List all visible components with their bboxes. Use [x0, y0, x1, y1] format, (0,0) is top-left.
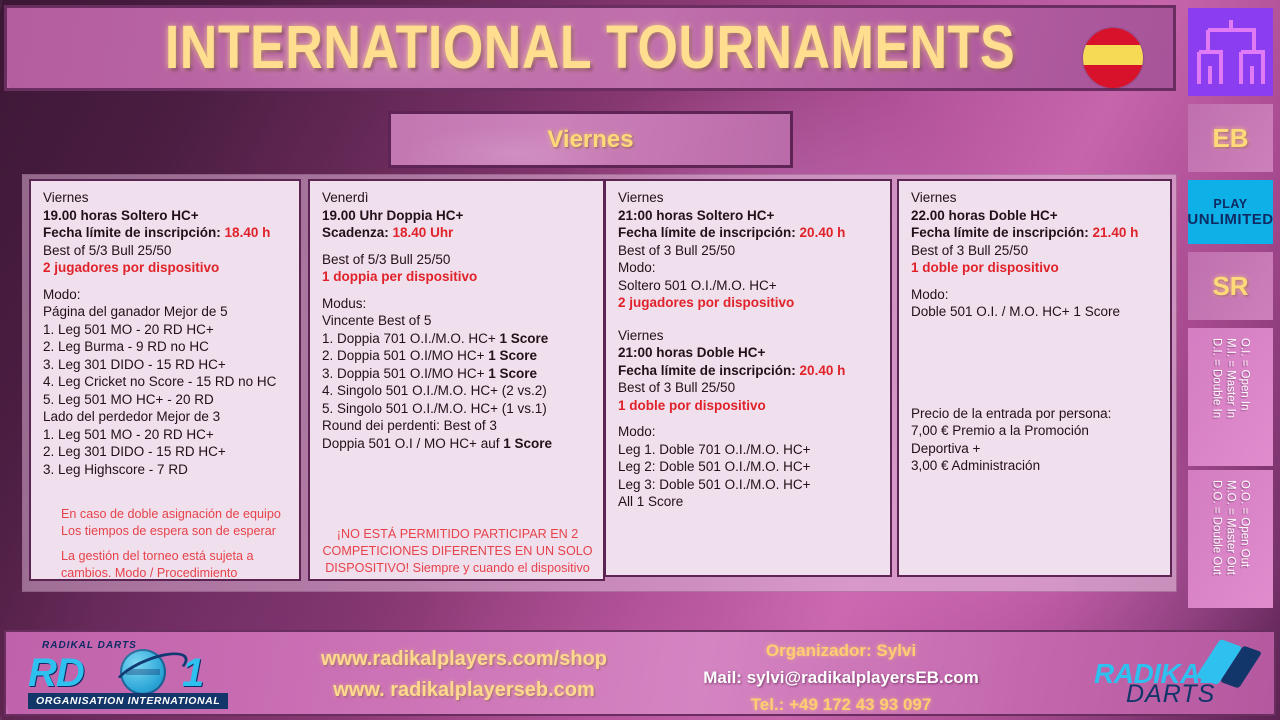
panel-note-line: Los tiempos de espera son de esperar	[61, 523, 289, 540]
panel-note-line: COMPETICIONES DIFERENTES EN UN SOLO	[322, 543, 593, 560]
legend-in-line: M.I. = Master In	[1225, 338, 1237, 418]
rail-badge-sr[interactable]: SR	[1188, 252, 1273, 320]
panel-line: 5. Leg 501 MO HC+ - 20 RD	[43, 391, 289, 409]
page-title: INTERNATIONAL TOURNAMENTS	[165, 13, 1015, 84]
panel-line: Best of 5/3 Bull 25/50	[322, 251, 593, 269]
spacer	[911, 396, 1160, 405]
price-heading-row: Precio de la entrada por persona:	[911, 405, 1160, 423]
panel-heading: Viernes	[618, 328, 664, 343]
price-line: Deportiva +	[911, 440, 1160, 458]
panel-heading: Viernes	[618, 190, 664, 205]
panel-line: Doble 501 O.I. / M.O. HC+ 1 Score	[911, 303, 1160, 321]
legend-in-line: O.I. = Open In	[1239, 338, 1251, 411]
rail-eb-label: EB	[1212, 123, 1248, 154]
footer-link-shop[interactable]: www.radikalplayers.com/shop	[274, 644, 654, 675]
panel-line: Venerdì	[322, 189, 593, 207]
panel-line: Modo:	[43, 286, 289, 304]
brand-darts-text: DARTS	[1126, 680, 1215, 709]
panel-line: Viernes	[618, 189, 880, 207]
panel-line: 2. Leg Burma - 9 RD no HC	[43, 338, 289, 356]
spacer	[911, 366, 1160, 381]
header-bar: INTERNATIONAL TOURNAMENTS	[4, 5, 1176, 91]
rail-sr-label: SR	[1212, 271, 1248, 302]
panel-line: 5. Singolo 501 O.I./M.O. HC+ (1 vs.1)	[322, 400, 593, 418]
panel-line: Viernes	[618, 327, 880, 345]
right-rail: EB PLAY UNLIMITED SR O.I. = Open InM.I. …	[1180, 0, 1280, 620]
panel-line: Lado del perdedor Mejor de 3	[43, 408, 289, 426]
panel-note: ¡NO ESTÁ PERMITIDO PARTICIPAR EN 2COMPET…	[322, 526, 593, 581]
price-line: 3,00 € Administración	[911, 457, 1160, 475]
spacer	[911, 381, 1160, 396]
panel-heading: Página del ganador Mejor de 5	[43, 304, 228, 319]
panel-line: Página del ganador Mejor de 5	[43, 303, 289, 321]
spacer	[322, 242, 593, 251]
footer-bar: RADIKAL DARTS RD 1 ORGANISATION INTERNAT…	[4, 630, 1276, 716]
panel-note-line: La gestión del torneo está sujeta a	[61, 548, 289, 565]
spacer	[911, 277, 1160, 286]
panel-line: 2 jugadores por dispositivo	[43, 259, 289, 277]
spacer	[911, 321, 1160, 336]
panel-line: Fecha límite de inscripción: 20.40 h	[618, 224, 880, 242]
tab-viernes[interactable]: Viernes	[388, 111, 793, 168]
panel-note-line: En caso de doble asignación de equipo	[61, 506, 289, 523]
panel-line: 21:00 horas Soltero HC+	[618, 207, 880, 225]
panel-heading: Lado del perdedor Mejor de 3	[43, 409, 220, 424]
spacer	[911, 351, 1160, 366]
legend-out-line: D.O. = Double Out	[1211, 480, 1223, 575]
play-line1: PLAY	[1213, 197, 1247, 211]
rail-badge-eb[interactable]: EB	[1188, 104, 1273, 172]
panel-line: Leg 3: Doble 501 O.I./M.O. HC+	[618, 476, 880, 494]
panel-line: 1 doppia per dispositivo	[322, 268, 593, 286]
deadline-value: 18.40 h	[221, 225, 271, 240]
score-emphasis: 1 Score	[496, 331, 549, 346]
legend-out: O.O. = Open OutM.O. = Master OutD.O. = D…	[1188, 470, 1273, 608]
panel-line: Soltero 501 O.I./M.O. HC+	[618, 277, 880, 295]
price-line: 7,00 € Premio a la Promoción	[911, 422, 1160, 440]
panel-line: Modus:	[322, 295, 593, 313]
footer-links: www.radikalplayers.com/shop www. radikal…	[274, 644, 654, 706]
deadline-value: 20.40 h	[796, 225, 846, 240]
panel-line: Leg 2: Doble 501 O.I./M.O. HC+	[618, 458, 880, 476]
panel-friday-21[interactable]: Viernes21:00 horas Soltero HC+Fecha lími…	[604, 179, 892, 577]
tournament-bracket-icon[interactable]	[1188, 8, 1273, 96]
legend-out-lines: O.O. = Open OutM.O. = Master OutD.O. = D…	[1188, 470, 1273, 608]
schedule-panels-container: Viernes19.00 horas Soltero HC+Fecha lími…	[22, 174, 1177, 592]
panel-friday-singles-19[interactable]: Viernes19.00 horas Soltero HC+Fecha lími…	[29, 179, 301, 581]
deadline-value: 21.40 h	[1089, 225, 1139, 240]
panel-line: 3. Leg 301 DIDO - 15 RD HC+	[43, 356, 289, 374]
play-line2: UNLIMITED	[1188, 211, 1273, 228]
score-emphasis: 1 Score	[484, 366, 537, 381]
panel-line: 2 jugadores por dispositivo	[618, 294, 880, 312]
panel-line: 22.00 horas Doble HC+	[911, 207, 1160, 225]
panel-line: All 1 Score	[618, 493, 880, 511]
panel-line: Fecha límite de inscripción: 20.40 h	[618, 362, 880, 380]
spacer	[618, 414, 880, 423]
score-emphasis: 1 Score	[484, 348, 537, 363]
panel-note-line: cambios. Modo / Procedimiento	[61, 565, 289, 581]
panel-line: 4. Singolo 501 O.I./M.O. HC+ (2 vs.2)	[322, 382, 593, 400]
rdoi-logo-one-text: 1	[182, 651, 204, 696]
panel-line: 1. Doppia 701 O.I./M.O. HC+ 1 Score	[322, 330, 593, 348]
legend-in-line: D.I. = Double In	[1211, 338, 1223, 418]
panel-line: Modo:	[618, 259, 880, 277]
deadline-value: 18.40 Uhr	[389, 225, 454, 240]
rdoi-logo: RADIKAL DARTS RD 1 ORGANISATION INTERNAT…	[20, 638, 230, 710]
panel-heading: Modo:	[618, 260, 656, 275]
panel-line: 2. Doppia 501 O.I/MO HC+ 1 Score	[322, 347, 593, 365]
spain-flag-icon	[1083, 28, 1143, 88]
panel-line: Leg 1. Doble 701 O.I./M.O. HC+	[618, 441, 880, 459]
rail-badge-play-unlimited[interactable]: PLAY UNLIMITED	[1188, 180, 1273, 244]
panel-line: 19.00 horas Soltero HC+	[43, 207, 289, 225]
panel-line: 1. Leg 501 MO - 20 RD HC+	[43, 426, 289, 444]
legend-in: O.I. = Open InM.I. = Master InD.I. = Dou…	[1188, 328, 1273, 466]
panel-heading: Modus:	[322, 296, 366, 311]
organizer-text: Organizador: Sylvi	[626, 637, 1056, 664]
panel-heading: Viernes	[43, 190, 89, 205]
panel-heading: Vincente Best of 5	[322, 313, 431, 328]
panel-heading: Venerdì	[322, 190, 369, 205]
panel-line: 3. Doppia 501 O.I/MO HC+ 1 Score	[322, 365, 593, 383]
spacer	[618, 312, 880, 327]
tel-text: Tel.: +49 172 43 93 097	[626, 691, 1056, 718]
spacer	[911, 336, 1160, 351]
panel-line: Modo:	[911, 286, 1160, 304]
panel-line: Vincente Best of 5	[322, 312, 593, 330]
panel-friday-22[interactable]: Viernes22.00 horas Doble HC+Fecha límite…	[897, 179, 1172, 577]
rdoi-logo-bottom-text: ORGANISATION INTERNATIONAL	[28, 693, 228, 709]
panel-heading: Modo:	[43, 287, 81, 302]
panel-line: Round dei perdenti: Best of 3	[322, 417, 593, 435]
panel-line: Modo:	[618, 423, 880, 441]
footer-contact: Organizador: Sylvi Mail: sylvi@radikalpl…	[626, 637, 1056, 718]
spacer	[322, 286, 593, 295]
panel-note-line: DISPOSITIVO! Siempre y cuando el disposi…	[322, 560, 593, 577]
deadline-value: 20.40 h	[796, 363, 846, 378]
panel-line: 19.00 Uhr Doppia HC+	[322, 207, 593, 225]
legend-in-lines: O.I. = Open InM.I. = Master InD.I. = Dou…	[1188, 328, 1273, 466]
spacer	[43, 277, 289, 286]
price-heading: Precio de la entrada por persona:	[911, 406, 1111, 421]
bracket-glyph	[1194, 16, 1268, 88]
panel-line: 4. Leg Cricket no Score - 15 RD no HC	[43, 373, 289, 391]
panel-line: 21:00 horas Doble HC+	[618, 344, 880, 362]
panel-line: Fecha límite de inscripción: 18.40 h	[43, 224, 289, 242]
panel-line: 2. Leg 301 DIDO - 15 RD HC+	[43, 443, 289, 461]
score-emphasis: 1 Score	[499, 436, 552, 451]
panel-heading: Viernes	[911, 190, 957, 205]
mail-text[interactable]: Mail: sylvi@radikalplayersEB.com	[626, 664, 1056, 691]
panel-line: Viernes	[911, 189, 1160, 207]
panel-line: Viernes	[43, 189, 289, 207]
panel-heading: Modo:	[618, 424, 656, 439]
panel-note-line: ¡NO ESTÁ PERMITIDO PARTICIPAR EN 2	[322, 526, 593, 543]
panel-note: En caso de doble asignación de equipoLos…	[43, 506, 289, 581]
panel-line: Fecha límite de inscripción: 21.40 h	[911, 224, 1160, 242]
panel-line: 3. Leg Highscore - 7 RD	[43, 461, 289, 479]
panel-line: Doppia 501 O.I / MO HC+ auf 1 Score	[322, 435, 593, 453]
rdoi-logo-top-text: RADIKAL DARTS	[42, 640, 137, 651]
panel-heading: Modo:	[911, 287, 949, 302]
panel-line: 1. Leg 501 MO - 20 RD HC+	[43, 321, 289, 339]
panel-venerdi-doubles-19[interactable]: Venerdì19.00 Uhr Doppia HC+Scadenza: 18.…	[308, 179, 605, 581]
panel-line: Best of 3 Bull 25/50	[618, 379, 880, 397]
rdoi-logo-rd-text: RD	[28, 651, 84, 696]
legend-out-line: M.O. = Master Out	[1225, 480, 1237, 575]
panel-note-line: siga ocupado por otra competencia.	[322, 577, 593, 581]
panel-line: Best of 5/3 Bull 25/50	[43, 242, 289, 260]
panel-line: 1 doble por dispositivo	[618, 397, 880, 415]
panel-line: 1 doble por dispositivo	[911, 259, 1160, 277]
radikal-darts-logo: RADIKAL DARTS	[1094, 642, 1254, 708]
panel-line: Scadenza: 18.40 Uhr	[322, 224, 593, 242]
legend-out-line: O.O. = Open Out	[1239, 480, 1251, 567]
panel-line: Best of 3 Bull 25/50	[911, 242, 1160, 260]
footer-link-eb[interactable]: www. radikalplayerseb.com	[274, 675, 654, 706]
panel-heading: Round dei perdenti: Best of 3	[322, 418, 497, 433]
tab-viernes-label: Viernes	[547, 126, 633, 154]
panel-line: Best of 3 Bull 25/50	[618, 242, 880, 260]
